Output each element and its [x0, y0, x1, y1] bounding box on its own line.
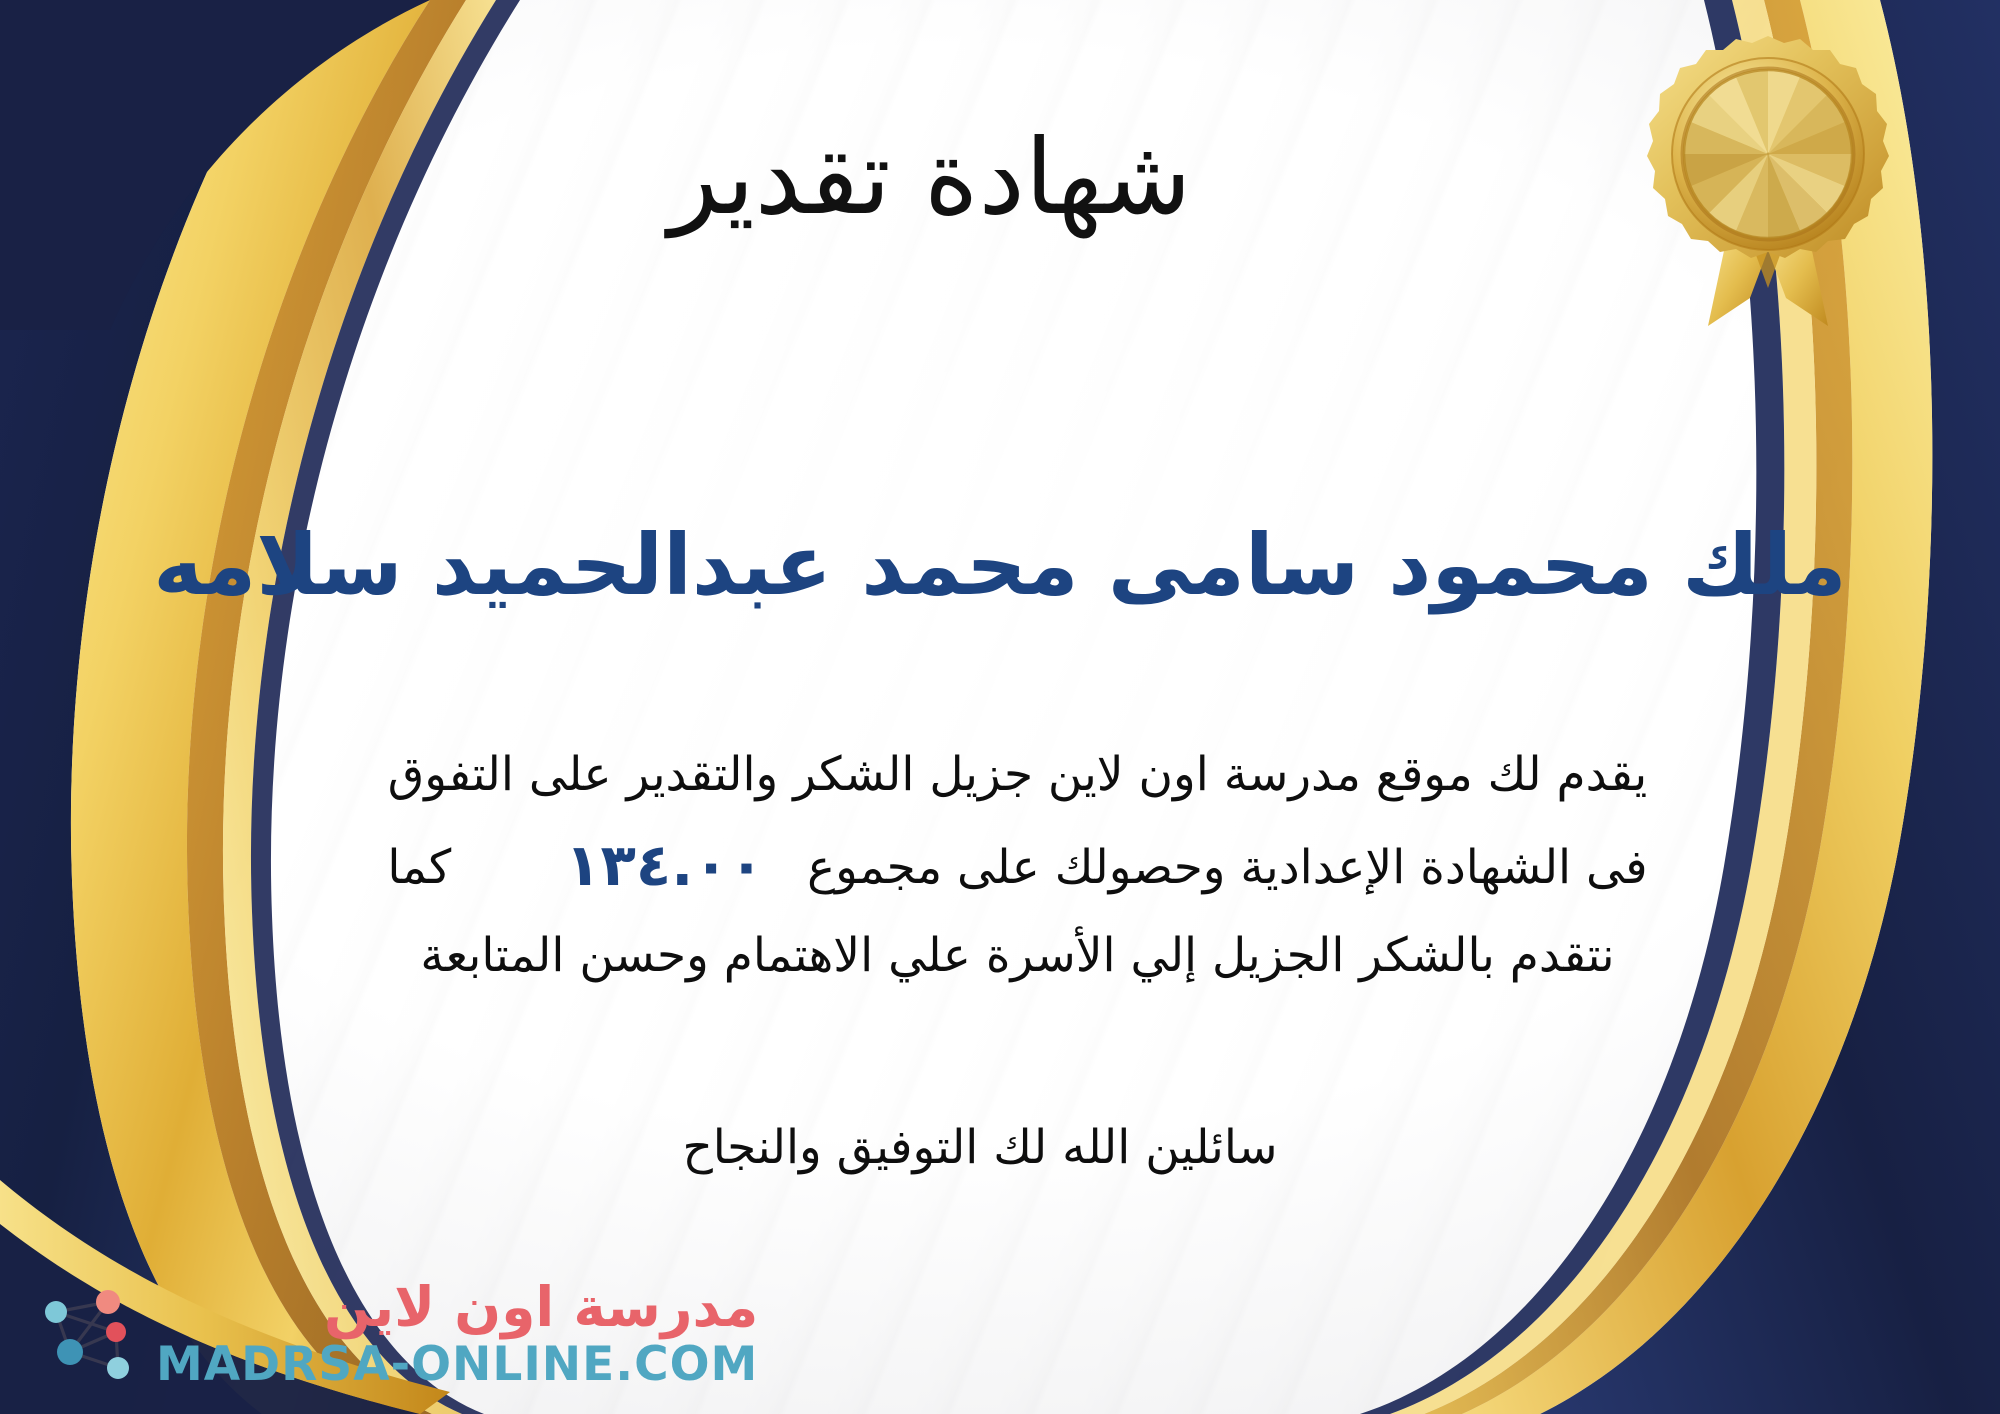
- closing-wish: سائلين الله لك التوفيق والنجاح: [0, 1110, 2000, 1185]
- certificate-page: شهادة تقدير ملك محمود سامى محمد عبدالحمي…: [0, 0, 2000, 1414]
- brand-arabic-name: مدرسة اون لاين: [324, 1280, 758, 1335]
- body-line-1: يقدم لك موقع مدرسة اون لاين جزيل الشكر و…: [210, 735, 1825, 816]
- network-nodes-icon: [34, 1280, 142, 1388]
- brand-domain: MADRSA-ONLINE.COM: [156, 1341, 758, 1388]
- body-line-3: نتقدم بالشكر الجزيل إلي الأسرة علي الاهت…: [210, 916, 1825, 997]
- score-value: ١٣٤.٠٠: [537, 831, 792, 899]
- certificate-body: يقدم لك موقع مدرسة اون لاين جزيل الشكر و…: [210, 735, 1825, 996]
- body-line-2: فى الشهادة الإعدادية وحصولك على مجموع ١٣…: [210, 816, 1825, 916]
- body-line-2-start: فى الشهادة الإعدادية وحصولك على مجموع: [807, 840, 1648, 895]
- recipient-name: ملك محمود سامى محمد عبدالحميد سلامه: [0, 515, 2000, 616]
- gold-seal-medal-icon: [1632, 36, 1904, 326]
- brand-logo[interactable]: مدرسة اون لاين MADRSA-ONLINE.COM: [34, 1280, 758, 1388]
- body-line-2-end: كما: [387, 840, 451, 895]
- brand-text: مدرسة اون لاين MADRSA-ONLINE.COM: [156, 1280, 758, 1388]
